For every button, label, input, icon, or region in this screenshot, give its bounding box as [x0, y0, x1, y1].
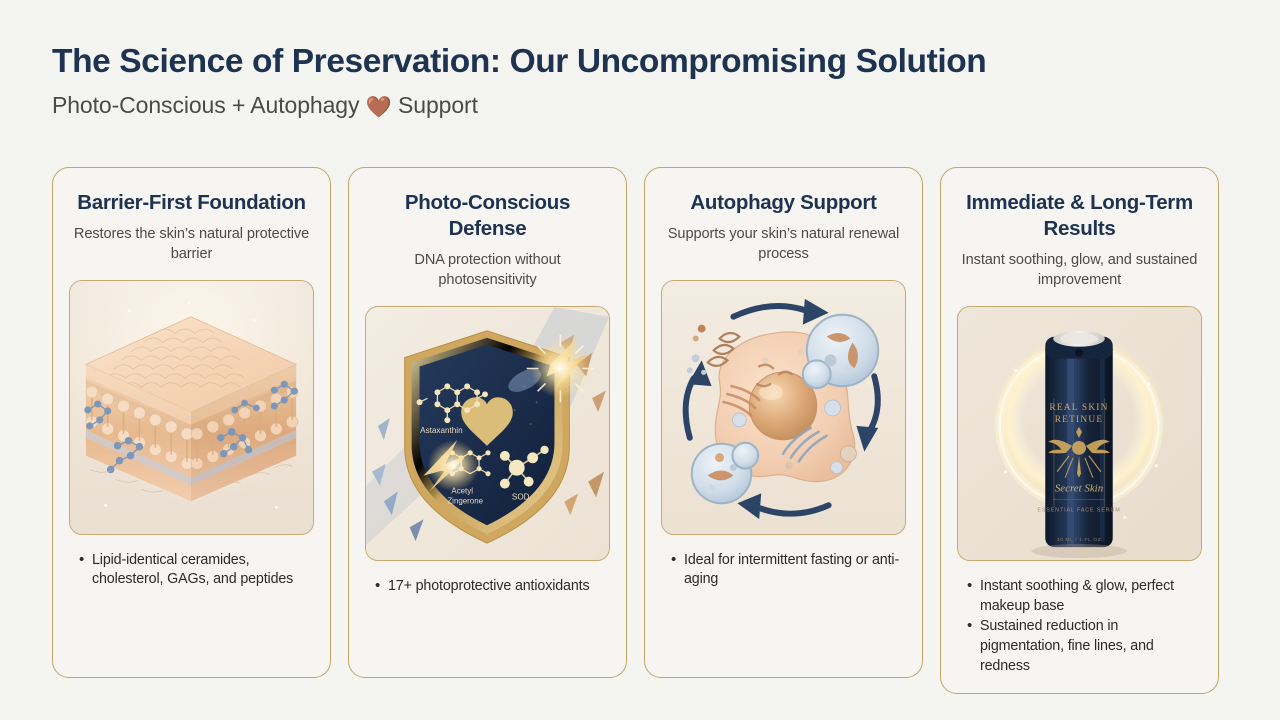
card-title: Immediate & Long-Term Results: [957, 190, 1202, 242]
card-title: Autophagy Support: [690, 190, 876, 216]
molecule-label-acetyl-zingerone-2: Zingerone: [447, 496, 483, 505]
card-bullet-list: 17+ photoprotective antioxidants: [365, 577, 610, 598]
card-bullet-list: Lipid-identical ceramides, cholesterol, …: [69, 551, 314, 591]
feature-card-photo-conscious[interactable]: Photo-Conscious Defense DNA protection w…: [348, 167, 627, 678]
feature-card-row: Barrier-First Foundation Restores the sk…: [52, 167, 1228, 694]
feature-card-results[interactable]: Immediate & Long-Term Results Instant so…: [940, 167, 1219, 694]
card-bullet-list: Instant soothing & glow, perfect makeup …: [957, 577, 1202, 678]
page-subtitle-text-after: Support: [398, 92, 478, 118]
list-item: Ideal for intermittent fasting or anti-a…: [671, 551, 902, 590]
bottle-product-name: Secret Skin: [1055, 482, 1103, 494]
card-subtitle: Supports your skin’s natural renewal pro…: [661, 225, 906, 264]
brown-heart-icon: 🤎: [366, 95, 392, 120]
card-title: Photo-Conscious Defense: [365, 190, 610, 242]
list-item: 17+ photoprotective antioxidants: [375, 577, 606, 597]
page-header: The Science of Preservation: Our Uncompr…: [52, 42, 1232, 120]
feature-card-barrier-first[interactable]: Barrier-First Foundation Restores the sk…: [52, 167, 331, 678]
card-subtitle: Instant soothing, glow, and sustained im…: [957, 251, 1202, 290]
serum-bottle-product-photo: REAL SKIN RETINUE Secret Skin ESSENTIAL …: [957, 306, 1202, 561]
card-title: Barrier-First Foundation: [77, 190, 306, 216]
molecule-label-astaxanthin: Astaxanthin: [420, 426, 462, 435]
list-item: Lipid-identical ceramides, cholesterol, …: [79, 551, 310, 590]
list-item: Instant soothing & glow, perfect makeup …: [967, 577, 1198, 616]
cell-autophagy-cycle-illustration: [661, 280, 906, 535]
bottle-product-descriptor: ESSENTIAL FACE SERUM: [1037, 507, 1120, 513]
bottle-volume: 30 ML / 1 FL OZ: [1057, 537, 1102, 543]
page-subtitle: Photo-Conscious + Autophagy 🤎 Support: [52, 92, 1232, 120]
bottle-brand-line1: REAL SKIN: [1049, 403, 1108, 413]
card-bullet-list: Ideal for intermittent fasting or anti-a…: [661, 551, 906, 591]
skin-lipid-bilayer-illustration: [69, 280, 314, 535]
bottle-brand-line2: RETINUE: [1055, 415, 1104, 425]
list-item: Sustained reduction in pigmentation, fin…: [967, 617, 1198, 676]
antioxidant-shield-illustration: Astaxanthin Acetyl Zingerone: [365, 306, 610, 561]
card-subtitle: DNA protection without photosensitivity: [365, 251, 610, 290]
feature-card-autophagy[interactable]: Autophagy Support Supports your skin’s n…: [644, 167, 923, 678]
page-title: The Science of Preservation: Our Uncompr…: [52, 42, 1232, 82]
card-subtitle: Restores the skin’s natural protective b…: [69, 225, 314, 264]
page-subtitle-text-before: Photo-Conscious + Autophagy: [52, 92, 359, 118]
molecule-label-sod: SOD: [512, 492, 530, 501]
